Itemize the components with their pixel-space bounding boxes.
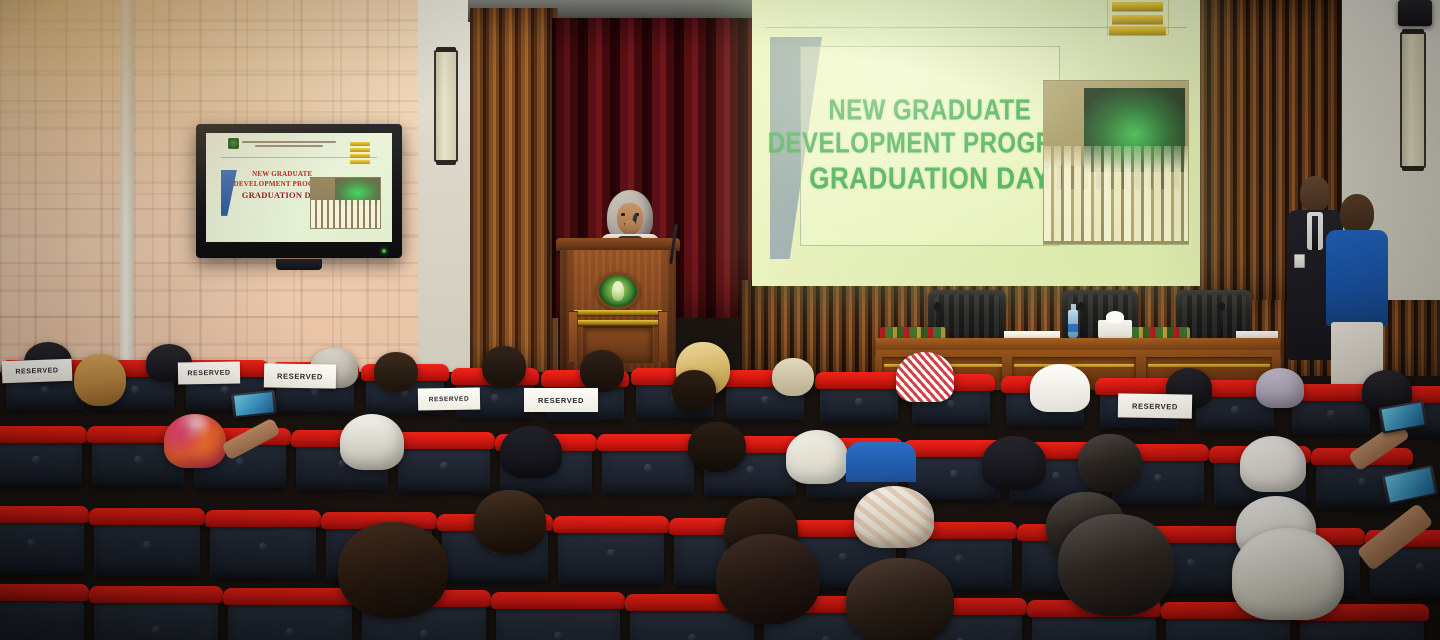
audience-head-hijab [854,486,934,548]
audience-head-hijab [1256,368,1304,408]
audience-head [716,534,820,624]
audience-head [846,558,954,640]
auditorium-scene: King Faisal Specialist Hospital and Rese… [0,0,1440,640]
audience-head-hijab [982,436,1046,490]
audience-head-hijab [1240,436,1306,492]
reserved-sign: RESERVED [418,387,480,410]
audience-head-hijab [1232,528,1344,620]
audience-head [1078,434,1142,492]
reserved-label: RESERVED [187,369,230,377]
seat[interactable] [0,514,84,574]
monitor-group-photo [310,177,381,229]
seat[interactable] [398,440,490,492]
wall-monitor: NEW GRADUATE DEVELOPMENT PROGRAM GRADUAT… [196,124,402,258]
seat[interactable] [1292,392,1370,434]
left-textured-wall [0,0,128,372]
reserved-label: RESERVED [429,395,470,403]
audience-shoulders [846,442,916,482]
monitor-power-led [382,249,386,253]
monitor-title-line-1: NEW GRADUATE [252,170,312,178]
projection-screen: King Faisal Specialist Hospital and Rese… [752,0,1200,286]
smartphone [231,390,277,418]
staff-badge [1294,254,1305,268]
kfshrc-logo-icon-small [228,138,239,149]
books-stack-icon [1107,0,1169,35]
audience-head [580,350,624,392]
seat[interactable] [228,596,352,640]
seat[interactable] [94,516,200,576]
reserved-label: RESERVED [15,367,58,376]
monitor-slide-header [228,138,336,149]
audience-head [74,354,126,406]
person-head [1340,194,1374,234]
books-stack-icon-small [350,142,370,168]
audience-head [1058,514,1174,616]
wood-slat-wall-left [470,8,558,372]
seat[interactable] [558,524,664,584]
ceiling-speaker [1398,0,1432,26]
audience-head [338,522,448,618]
audience-head-hijab-patterned [164,414,226,468]
audience-head [482,346,526,388]
seat[interactable] [602,442,694,494]
seat[interactable] [0,592,84,640]
audience-head-hijab [786,430,848,484]
reserved-label: RESERVED [538,396,584,405]
wall-speaker-panel-left [434,50,458,162]
slide-title-line-3: GRADUATION DAY [809,161,1050,198]
person-blue-shirt [1326,230,1388,326]
audience-head [474,490,546,554]
audience-seating: RESERVED RESERVED RESERVED RESERVED RESE… [0,330,1440,640]
audience-head [688,422,746,472]
podium-emblem-icon [596,272,640,310]
reserved-sign: RESERVED [524,388,598,412]
seat[interactable] [94,594,218,640]
audience-head [672,370,716,412]
monitor-accent-wedge [221,170,237,216]
seat[interactable] [820,380,898,422]
reserved-sign: RESERVED [178,361,240,384]
monitor-stand [276,259,322,270]
audience-head [374,352,418,392]
seat[interactable] [0,434,82,486]
seat[interactable] [210,518,316,578]
audience-head-hijab [500,426,562,478]
reserved-label: RESERVED [277,371,323,381]
person-necktie [1312,216,1318,250]
speaker-hand [625,220,636,233]
slide-title-line-1: NEW GRADUATE [828,95,1031,128]
slide-title-block: NEW GRADUATE DEVELOPMENT PROGRAM GRADUAT… [770,37,1066,259]
audience-head-ghutra [1030,364,1090,412]
graduates-group-photo [1043,80,1189,245]
wall-speaker-panel-right [1400,32,1426,168]
audience-head [772,358,814,396]
monitor-screen: NEW GRADUATE DEVELOPMENT PROGRAM GRADUAT… [206,133,392,242]
reserved-sign: RESERVED [1118,393,1192,418]
reserved-sign: RESERVED [264,363,336,388]
seat[interactable] [496,600,620,640]
reserved-label: RESERVED [1132,401,1178,411]
reserved-sign: RESERVED [2,359,73,383]
audience-head-ghutra [896,352,954,402]
audience-head-hijab [340,414,404,470]
